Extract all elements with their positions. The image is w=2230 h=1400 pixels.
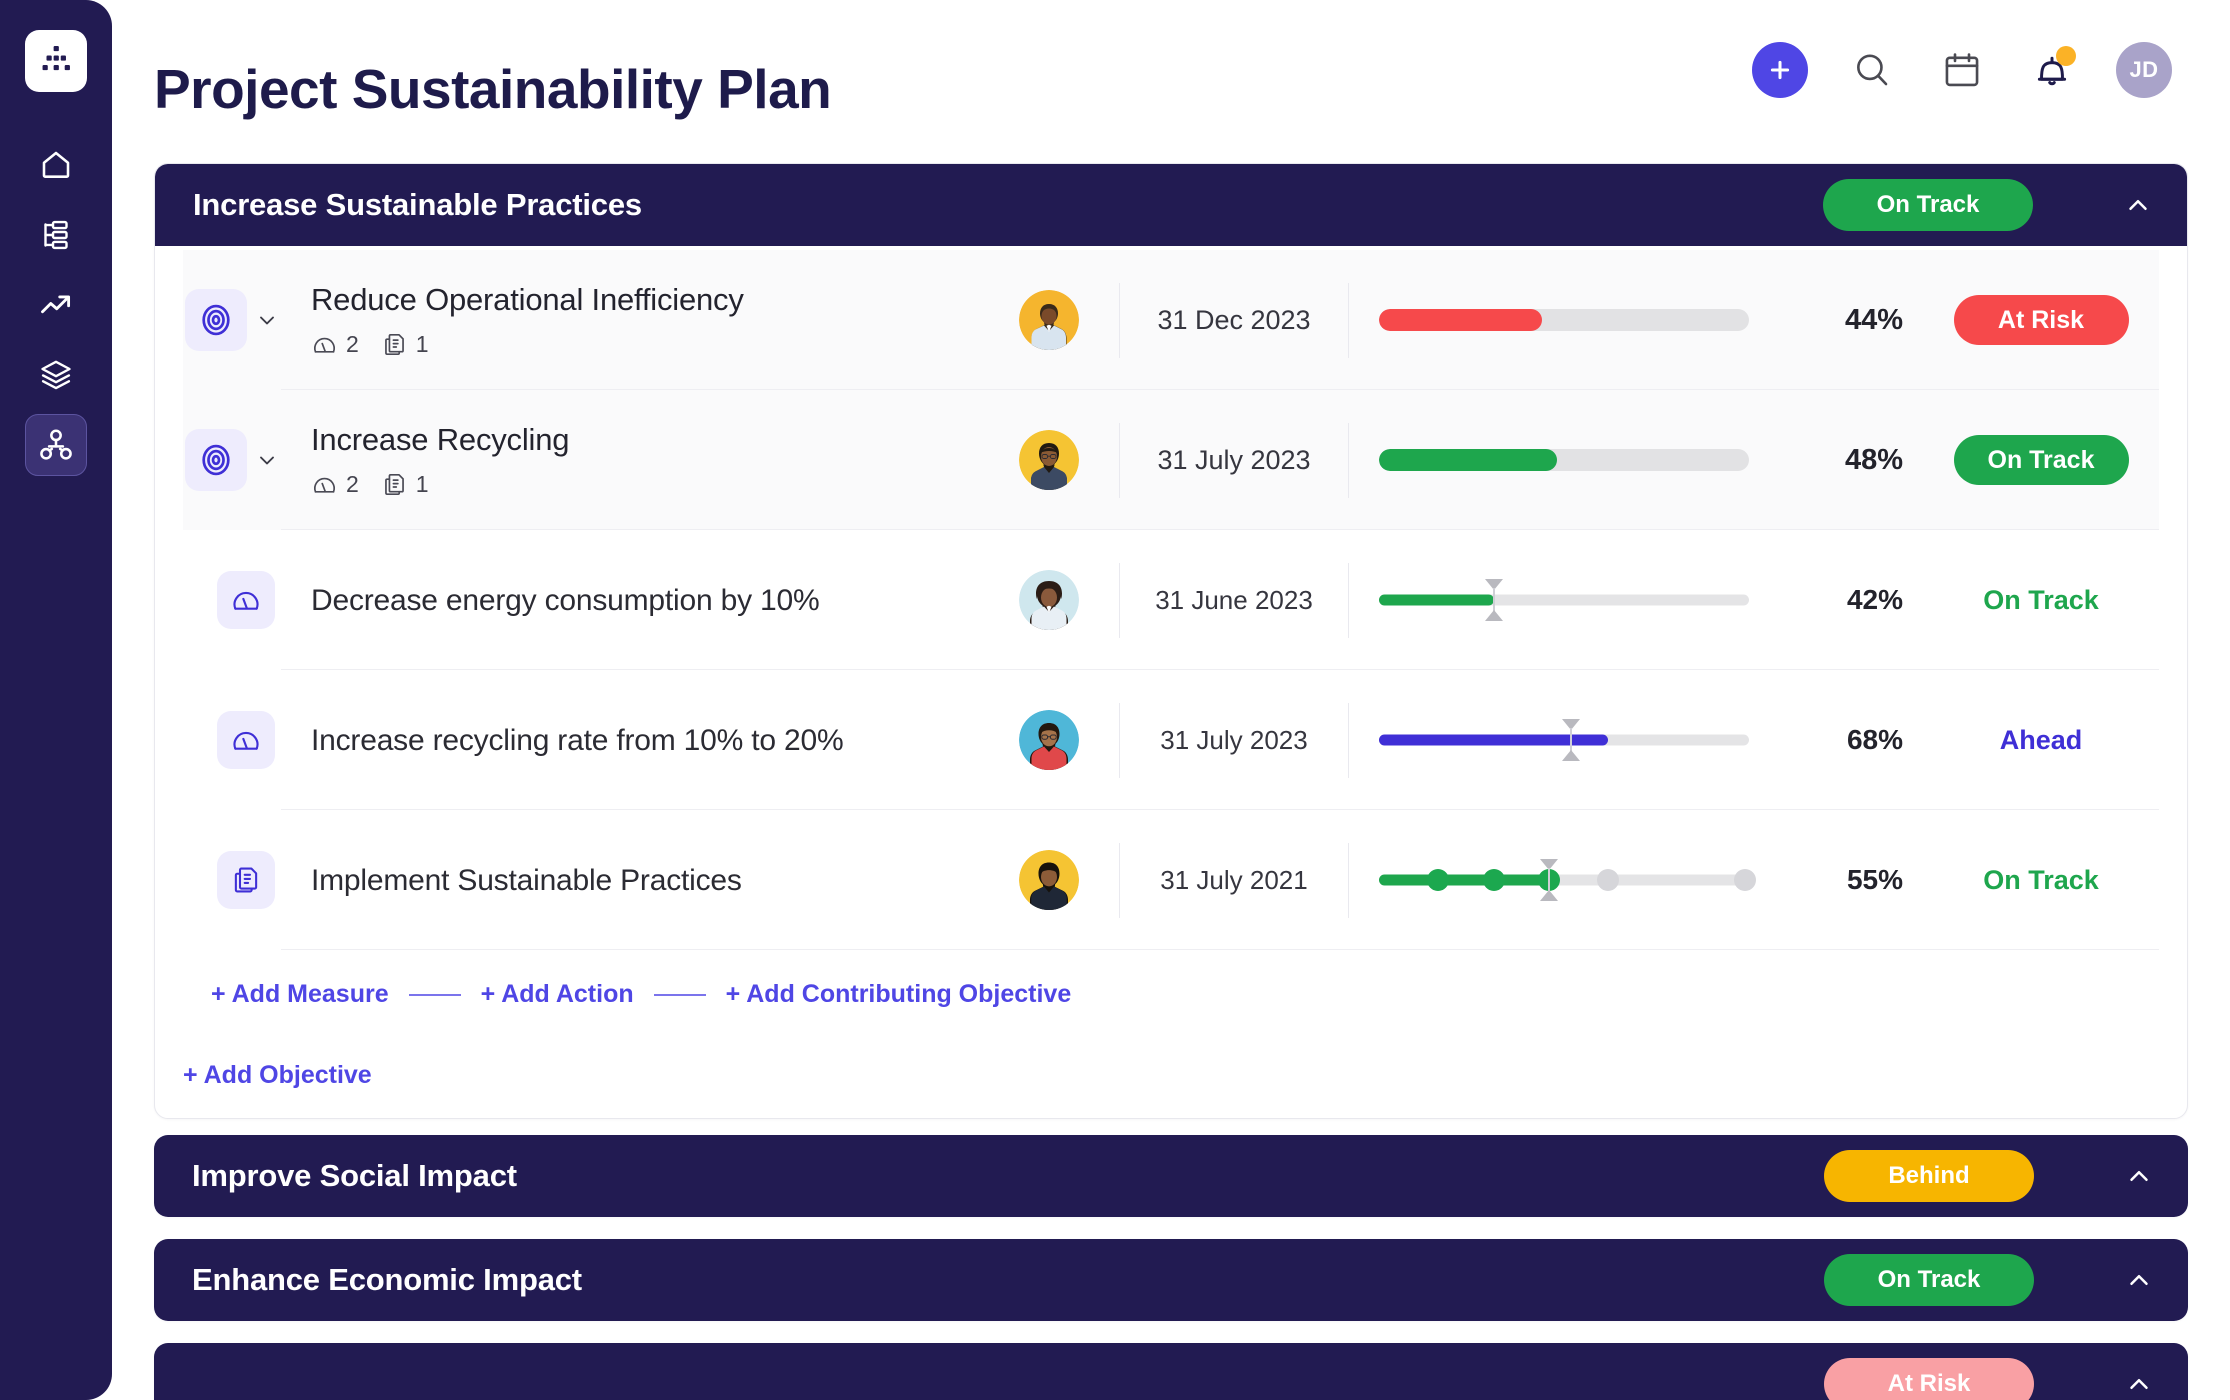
- status-badge[interactable]: On Track: [1954, 435, 2129, 485]
- chevron-down-icon[interactable]: [255, 448, 279, 472]
- status-badge[interactable]: At Risk: [1954, 295, 2129, 345]
- target-marker[interactable]: [1540, 859, 1558, 901]
- link-divider: [409, 994, 461, 996]
- progress-bar-track: [1379, 449, 1749, 471]
- row-meta: 2 1: [311, 471, 979, 498]
- row-title: Implement Sustainable Practices: [311, 864, 979, 897]
- milestone-slider[interactable]: [1379, 857, 1749, 903]
- action-count-chip: 1: [381, 331, 429, 358]
- app-root: Project Sustainability Plan: [0, 0, 2230, 1400]
- row-title: Decrease energy consumption by 10%: [311, 584, 979, 617]
- add-button[interactable]: [1752, 42, 1808, 98]
- org-chart-logo-icon: [37, 42, 75, 80]
- row-status: On Track: [1909, 585, 2159, 616]
- action-count: 1: [416, 331, 429, 358]
- action-count: 1: [416, 471, 429, 498]
- objective-menu-button[interactable]: [2052, 1153, 2098, 1199]
- row-icon-group: [183, 711, 303, 769]
- table-row[interactable]: Implement Sustainable Practices: [183, 810, 2159, 950]
- objectives-list: Increase Sustainable Practices On Track: [112, 121, 2230, 1400]
- measure-count: 2: [346, 471, 359, 498]
- sidebar-item-plans[interactable]: [25, 204, 87, 266]
- row-icon-group[interactable]: [183, 289, 303, 351]
- status-badge[interactable]: On Track: [1823, 179, 2033, 231]
- action-doc-icon: [217, 851, 275, 909]
- gauge-icon: [217, 711, 275, 769]
- header-actions: JD: [1752, 34, 2172, 98]
- objective-card: Increase Sustainable Practices On Track: [154, 163, 2188, 1119]
- target-icon: [185, 429, 247, 491]
- notification-badge: [2056, 46, 2076, 66]
- search-icon: [1851, 49, 1893, 91]
- layers-icon: [38, 357, 74, 393]
- row-title: Increase Recycling: [311, 423, 979, 457]
- objective-card: Improve Social Impact Behind: [154, 1135, 2188, 1217]
- chevron-up-icon: [2123, 190, 2153, 220]
- row-icon-group[interactable]: [183, 429, 303, 491]
- topbar: Project Sustainability Plan: [112, 0, 2230, 121]
- progress-slider[interactable]: [1379, 577, 1749, 623]
- objective-header[interactable]: At Risk: [154, 1343, 2188, 1400]
- status-label: On Track: [1983, 585, 2099, 616]
- row-content: Implement Sustainable Practices: [303, 864, 979, 897]
- row-percent: 42%: [1779, 584, 1909, 616]
- progress-slider[interactable]: [1379, 717, 1749, 763]
- progress-bar-fill: [1379, 309, 1542, 331]
- objective-menu-button[interactable]: [2051, 182, 2097, 228]
- row-owner-avatar[interactable]: [979, 290, 1119, 350]
- gauge-icon: [217, 571, 275, 629]
- sidebar-item-strategy-map[interactable]: [25, 414, 87, 476]
- row-status[interactable]: At Risk: [1909, 295, 2159, 345]
- progress-bar-fill: [1379, 449, 1557, 471]
- slider-fill: [1379, 875, 1549, 886]
- row-percent: 44%: [1779, 304, 1909, 337]
- row-percent: 68%: [1779, 724, 1909, 756]
- target-marker[interactable]: [1562, 719, 1580, 761]
- action-doc-icon: [381, 331, 408, 358]
- row-percent: 48%: [1779, 444, 1909, 477]
- gauge-icon: [311, 471, 338, 498]
- objective-title: Increase Sustainable Practices: [193, 187, 1805, 223]
- row-due-date: 31 July 2021: [1119, 843, 1349, 918]
- objective-card: At Risk: [154, 1343, 2188, 1400]
- trending-up-icon: [38, 287, 74, 323]
- gauge-icon: [311, 331, 338, 358]
- table-row[interactable]: Increase recycling rate from 10% to 20%: [183, 670, 2159, 810]
- sidebar: [0, 0, 112, 1400]
- row-owner-avatar[interactable]: [979, 570, 1119, 630]
- link-divider: [654, 994, 706, 996]
- slider-fill: [1379, 595, 1494, 606]
- calendar-icon: [1941, 49, 1983, 91]
- avatar: [1019, 290, 1079, 350]
- chevron-up-icon: [2124, 1161, 2154, 1191]
- row-content: Increase recycling rate from 10% to 20%: [303, 724, 979, 757]
- objective-menu-button[interactable]: [2052, 1257, 2098, 1303]
- progress-bar-track: [1379, 309, 1749, 331]
- sidebar-item-analytics[interactable]: [25, 274, 87, 336]
- avatar: [1019, 430, 1079, 490]
- row-progress[interactable]: [1349, 857, 1779, 903]
- objective-header[interactable]: Improve Social Impact Behind: [154, 1135, 2188, 1217]
- add-icon: [1766, 56, 1794, 84]
- status-label: Ahead: [2000, 725, 2083, 756]
- chevron-up-icon: [2124, 1265, 2154, 1295]
- app-logo[interactable]: [25, 30, 87, 92]
- milestone-dot[interactable]: [1483, 869, 1505, 891]
- page-title: Project Sustainability Plan: [154, 34, 831, 121]
- milestone-dot[interactable]: [1597, 869, 1619, 891]
- sidebar-item-home[interactable]: [25, 134, 87, 196]
- objective-menu-button[interactable]: [2052, 1361, 2098, 1400]
- row-status[interactable]: On Track: [1909, 435, 2159, 485]
- avatar: [1019, 570, 1079, 630]
- objective-collapse-button[interactable]: [2116, 1153, 2162, 1199]
- milestone-dot[interactable]: [1427, 869, 1449, 891]
- row-due-date: 31 July 2023: [1119, 703, 1349, 778]
- target-marker[interactable]: [1485, 579, 1503, 621]
- sidebar-item-layers[interactable]: [25, 344, 87, 406]
- action-doc-icon: [381, 471, 408, 498]
- add-objective-button[interactable]: + Add Objective: [183, 1061, 372, 1090]
- status-label: On Track: [1983, 865, 2099, 896]
- row-content: Decrease energy consumption by 10%: [303, 584, 979, 617]
- add-contributing-objective-button[interactable]: + Add Contributing Objective: [726, 980, 1072, 1009]
- add-measure-button[interactable]: + Add Measure: [211, 980, 389, 1009]
- calendar-button[interactable]: [1936, 44, 1988, 96]
- row-title: Reduce Operational Inefficiency: [311, 283, 979, 317]
- row-owner-avatar[interactable]: [979, 710, 1119, 770]
- row-content: Increase Recycling 2: [303, 423, 979, 498]
- objective-collapse-button[interactable]: [2116, 1361, 2162, 1400]
- main-content: Project Sustainability Plan: [112, 0, 2230, 1400]
- user-avatar[interactable]: JD: [2116, 42, 2172, 98]
- objective-rows: Reduce Operational Inefficiency 2: [155, 246, 2187, 1043]
- list-tree-icon: [38, 217, 74, 253]
- row-progress[interactable]: [1349, 449, 1779, 471]
- row-progress[interactable]: [1349, 717, 1779, 763]
- status-badge[interactable]: On Track: [1824, 1254, 2034, 1306]
- table-row[interactable]: Increase Recycling 2: [183, 390, 2159, 530]
- objective-header[interactable]: Increase Sustainable Practices On Track: [155, 164, 2187, 246]
- table-row[interactable]: Reduce Operational Inefficiency 2: [183, 250, 2159, 390]
- row-due-date: 31 June 2023: [1119, 563, 1349, 638]
- row-percent: 55%: [1779, 864, 1909, 896]
- row-due-date: 31 July 2023: [1119, 423, 1349, 498]
- avatar: [1019, 850, 1079, 910]
- chevron-down-icon[interactable]: [255, 308, 279, 332]
- row-progress[interactable]: [1349, 309, 1779, 331]
- measure-count-chip: 2: [311, 471, 359, 498]
- search-button[interactable]: [1846, 44, 1898, 96]
- measure-count-chip: 2: [311, 331, 359, 358]
- table-row[interactable]: Decrease energy consumption by 10%: [183, 530, 2159, 670]
- target-icon: [185, 289, 247, 351]
- row-title: Increase recycling rate from 10% to 20%: [311, 724, 979, 757]
- row-due-date: 31 Dec 2023: [1119, 283, 1349, 358]
- objective-title: Improve Social Impact: [192, 1158, 1806, 1194]
- objective-title: Enhance Economic Impact: [192, 1262, 1806, 1298]
- home-icon: [38, 147, 74, 183]
- measure-count: 2: [346, 331, 359, 358]
- add-links-row: + Add Measure + Add Action + Add Contrib…: [183, 950, 2159, 1043]
- add-objective-row: + Add Objective: [155, 1043, 2187, 1118]
- chevron-up-icon: [2124, 1369, 2154, 1399]
- row-owner-avatar[interactable]: [979, 850, 1119, 910]
- row-status: Ahead: [1909, 725, 2159, 756]
- row-progress[interactable]: [1349, 577, 1779, 623]
- status-badge[interactable]: At Risk: [1824, 1358, 2034, 1400]
- notifications-button[interactable]: [2026, 44, 2078, 96]
- milestone-dot[interactable]: [1734, 869, 1756, 891]
- row-owner-avatar[interactable]: [979, 430, 1119, 490]
- row-content: Reduce Operational Inefficiency 2: [303, 283, 979, 358]
- action-count-chip: 1: [381, 471, 429, 498]
- objective-collapse-button[interactable]: [2116, 1257, 2162, 1303]
- add-action-button[interactable]: + Add Action: [481, 980, 634, 1009]
- row-status: On Track: [1909, 865, 2159, 896]
- objective-card: Enhance Economic Impact On Track: [154, 1239, 2188, 1321]
- objective-collapse-button[interactable]: [2115, 182, 2161, 228]
- row-icon-group: [183, 571, 303, 629]
- objective-header[interactable]: Enhance Economic Impact On Track: [154, 1239, 2188, 1321]
- avatar: [1019, 710, 1079, 770]
- row-icon-group: [183, 851, 303, 909]
- row-meta: 2 1: [311, 331, 979, 358]
- network-nodes-icon: [38, 427, 74, 463]
- status-badge[interactable]: Behind: [1824, 1150, 2034, 1202]
